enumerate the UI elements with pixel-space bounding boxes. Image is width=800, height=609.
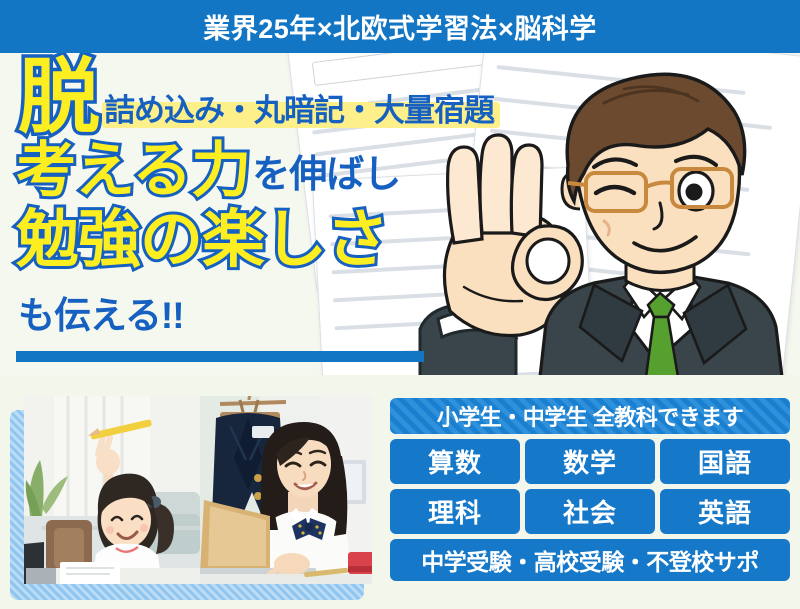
photo-teen-svg	[200, 396, 372, 584]
photo-junior-high-girl-laptop	[200, 396, 372, 584]
headline-line-1: 脱 詰め込み・丸暗記・大量宿題	[18, 59, 494, 138]
headline-accent-datsu: 脱	[18, 59, 98, 138]
subject-cell-sansuu[interactable]: 算数	[390, 439, 520, 484]
photo-strip	[24, 396, 372, 584]
subject-cell-eigo[interactable]: 英語	[660, 489, 790, 534]
subjects-footer: 中学受験・高校受験・不登校サポ	[390, 539, 790, 581]
headline-block: 脱 詰め込み・丸暗記・大量宿題 考える力 を伸ばし 勉強の楽しさ も伝える!!	[0, 53, 470, 375]
subjects-header-text: 小学生・中学生 全教科できます	[437, 400, 744, 432]
subject-cell-rika[interactable]: 理科	[390, 489, 520, 534]
headline-accent-benkyou-no-tanoshisa: 勉強の楽しさ	[16, 209, 388, 272]
headline-line-2-suffix: を伸ばし	[252, 143, 400, 201]
subject-cell-kokugo[interactable]: 国語	[660, 439, 790, 484]
subject-row-2: 理科 社会 英語	[390, 489, 790, 534]
photo-elementary-girl-raising-pencil	[24, 396, 200, 584]
headline-accent-kangaeru-chikara: 考える力	[16, 141, 250, 201]
hero-divider-bar	[16, 351, 424, 362]
subject-row-1: 算数 数学 国語	[390, 439, 790, 484]
subjects-panel: 小学生・中学生 全教科できます 算数 数学 国語 理科 社会 英語 中学受験・高…	[390, 398, 790, 598]
subjects-header: 小学生・中学生 全教科できます	[390, 398, 790, 434]
subject-cell-shakai[interactable]: 社会	[525, 489, 655, 534]
headline-line-4: も伝える!!	[18, 285, 184, 339]
headline-line-2: 考える力 を伸ばし	[16, 141, 400, 201]
subjects-footer-text: 中学受験・高校受験・不登校サポ	[421, 543, 759, 577]
subject-cell-suugaku[interactable]: 数学	[525, 439, 655, 484]
promo-banner: 業界25年×北欧式学習法×脳科学	[0, 0, 800, 609]
photo-girl-svg	[24, 396, 200, 584]
headline-highlight-wrap: 詰め込み・丸暗記・大量宿題	[104, 85, 494, 138]
student-photos	[10, 396, 370, 601]
tagline-strip: 業界25年×北欧式学習法×脳科学	[0, 0, 800, 53]
hero-section: 脱 詰め込み・丸暗記・大量宿題 考える力 を伸ばし 勉強の楽しさ も伝える!!	[0, 53, 800, 375]
headline-highlight-text: 詰め込み・丸暗記・大量宿題	[104, 93, 494, 128]
teacher-head	[562, 74, 745, 272]
tagline-text: 業界25年×北欧式学習法×脳科学	[203, 7, 597, 46]
